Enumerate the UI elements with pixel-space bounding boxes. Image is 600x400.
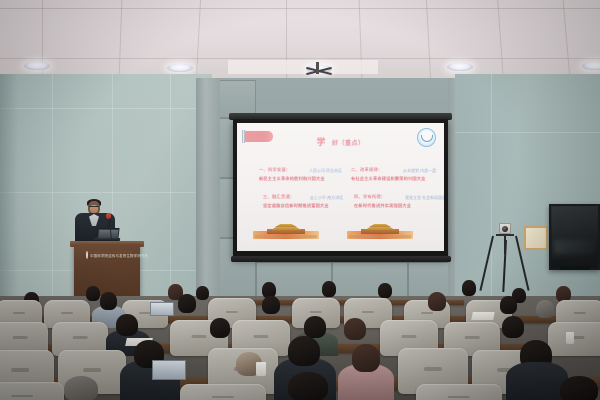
tripod-column bbox=[504, 236, 506, 254]
audience-head bbox=[100, 292, 117, 310]
audience-head bbox=[86, 286, 100, 301]
slide-title-sub: 好（重点） bbox=[332, 141, 365, 147]
audience-laptop bbox=[152, 360, 186, 380]
auditorium-seat bbox=[416, 384, 502, 400]
slide-item-note: 我党立党 社会新局面展 bbox=[405, 195, 444, 201]
slide-title: 学 好（重点） bbox=[237, 135, 444, 148]
wall-shadow bbox=[0, 74, 18, 302]
wall-column-left bbox=[196, 78, 220, 304]
paper-cup bbox=[256, 362, 266, 376]
lecture-hall-photo: EPSON 学 好（重点） 一、科学发展： 新民主主 bbox=[0, 0, 600, 400]
slide-item-body: 在新时代推进并实现强国大业 bbox=[354, 203, 411, 209]
audience-head bbox=[462, 280, 476, 296]
slide-item: 四、学有所得： 在新时代推进并实现强国大业 bbox=[354, 194, 411, 209]
podium-nameplate-text: 中国科学院遗传与发育生物学研究所 bbox=[90, 253, 148, 258]
audience-head bbox=[116, 314, 138, 336]
audience-head bbox=[352, 344, 380, 372]
audience-head bbox=[560, 376, 598, 400]
audience-head bbox=[262, 296, 280, 314]
slide-item-body: 有社会主义革命建设和繁荣的兴国大业 bbox=[351, 176, 426, 182]
audience-head bbox=[500, 296, 517, 314]
ceiling-light-cove bbox=[228, 60, 378, 74]
paper-cup bbox=[566, 332, 574, 344]
auditorium-seat bbox=[548, 322, 600, 356]
projection-screen: 学 好（重点） 一、科学发展： 新民主主义革命的胜利和兴国大业 人民公司 同业苏… bbox=[237, 123, 444, 251]
screen-bottom-bar bbox=[231, 256, 451, 262]
slide-item-body: 坚定道路自信新时期推进富国大业 bbox=[263, 203, 329, 209]
institute-emblem-icon bbox=[86, 251, 88, 259]
audience-head bbox=[288, 372, 328, 400]
audience-head bbox=[210, 318, 230, 338]
tiananmen-illustration-right bbox=[347, 223, 413, 239]
auditorium-seat bbox=[180, 384, 266, 400]
ceiling-seam bbox=[0, 8, 600, 9]
television-stand bbox=[560, 266, 590, 270]
ceiling-seam bbox=[0, 58, 600, 59]
podium-laptop-screen bbox=[98, 230, 118, 238]
ceiling-downlight bbox=[447, 63, 473, 71]
audience-head bbox=[178, 294, 196, 313]
camera-lens-icon bbox=[502, 226, 508, 232]
television-glare bbox=[554, 240, 595, 254]
audience-head bbox=[536, 300, 554, 318]
audience-head bbox=[428, 292, 446, 311]
audience-head bbox=[322, 281, 336, 297]
audience-papers bbox=[471, 312, 495, 320]
audience-head bbox=[64, 376, 98, 400]
glasses-icon bbox=[89, 206, 99, 209]
slide-item-note: 人民公司 同业苏区 bbox=[309, 168, 342, 174]
audience-head bbox=[196, 286, 209, 300]
projector-mount-pole bbox=[316, 62, 319, 74]
audience-head bbox=[288, 336, 320, 366]
tripod-head bbox=[496, 234, 514, 236]
audience-person bbox=[506, 362, 568, 400]
slide-item-body: 新民主主义革命的胜利和兴国大业 bbox=[259, 176, 325, 182]
audience-laptop bbox=[150, 302, 174, 316]
audience-head bbox=[502, 316, 524, 338]
auditorium-seat bbox=[0, 382, 64, 400]
slide-item-note: 从本规划 内部一盘 bbox=[403, 168, 436, 174]
microphone-icon bbox=[106, 213, 111, 219]
audience-head bbox=[378, 283, 392, 298]
audience-head bbox=[304, 316, 326, 338]
framed-wall-panel bbox=[524, 226, 548, 250]
ceiling-downlight bbox=[24, 62, 50, 70]
audience-head bbox=[344, 318, 366, 340]
tiananmen-illustration-left bbox=[253, 223, 319, 239]
ceiling-downlight bbox=[167, 64, 193, 72]
podium-nameplate: 中国科学院遗传与发育生物学研究所 bbox=[84, 251, 132, 259]
slide-item-note: 走上小平 南方讲话 bbox=[310, 195, 343, 201]
slide-title-main: 学 bbox=[316, 137, 327, 147]
slide-item-head: 四、学有所得： bbox=[354, 194, 411, 200]
